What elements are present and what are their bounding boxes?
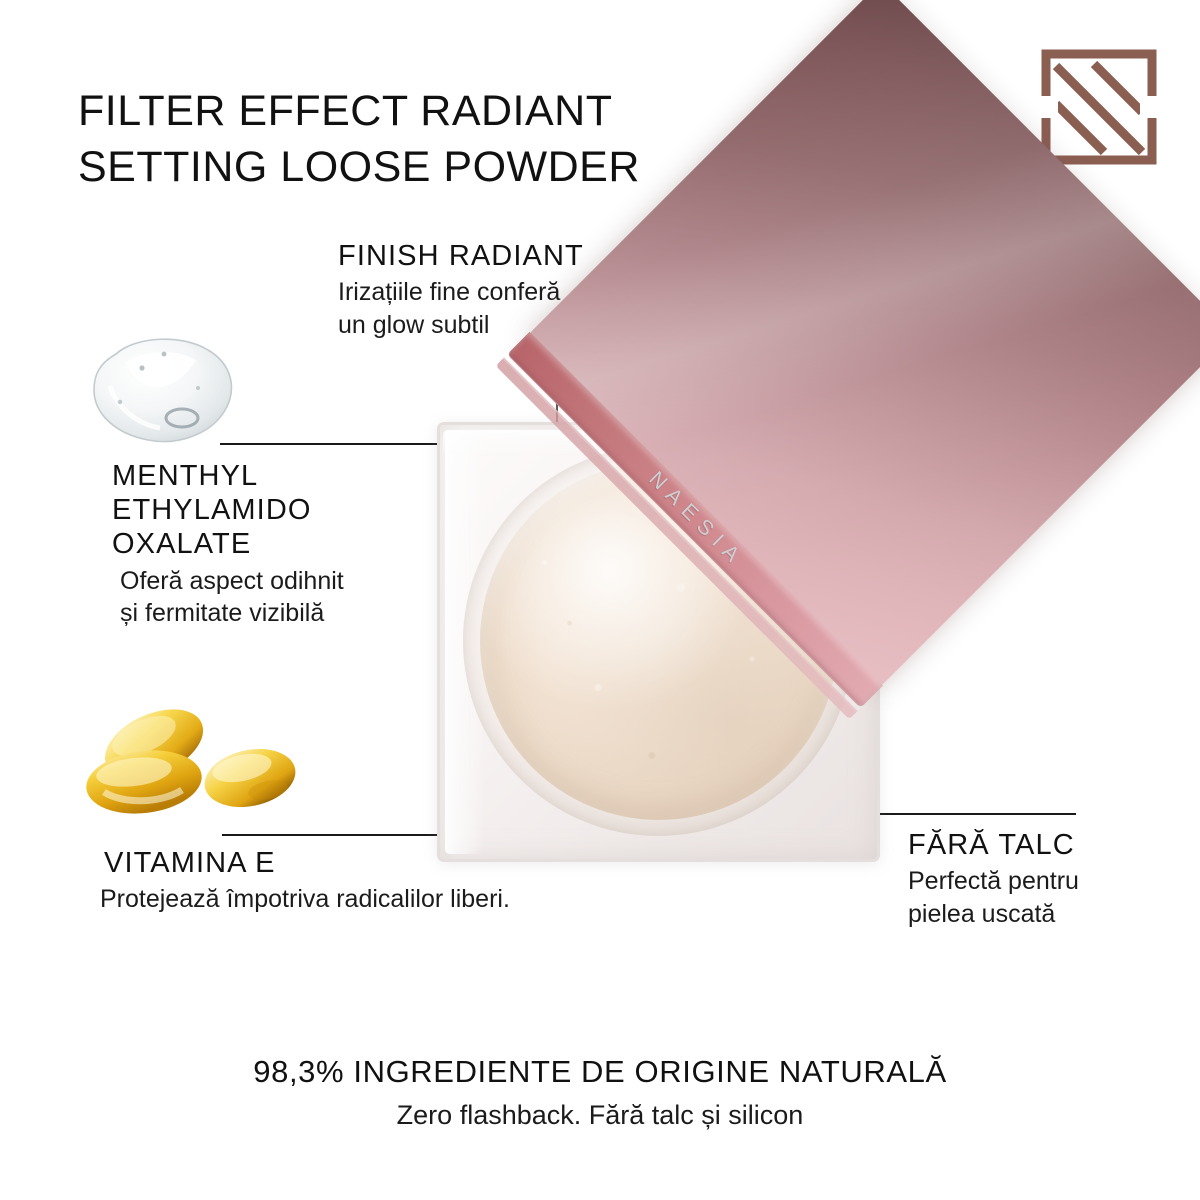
claim-main-text: 98,3% INGREDIENTE DE ORIGINE NATURALĂ [0, 1052, 1200, 1092]
callout-body: Perfectă pentru pielea uscată [908, 865, 1158, 930]
callout-fara-talc: FĂRĂ TALC Perfectă pentru pielea uscată [908, 828, 1158, 930]
infographic-canvas: FILTER EFFECT RADIANT SETTING LOOSE POWD… [0, 0, 1200, 1200]
callout-vitamina-e: VITAMINA E Protejează împotriva radicali… [104, 846, 664, 916]
callout-heading: FĂRĂ TALC [908, 828, 1158, 862]
connector-line-fara-talc [879, 813, 1076, 815]
softgel-capsules-icon [82, 700, 304, 832]
callout-body: Oferă aspect odihnit și fermitate vizibi… [120, 565, 442, 630]
footer-claim: 98,3% INGREDIENTE DE ORIGINE NATURALĂ Ze… [0, 1052, 1200, 1133]
connector-line-vitamina-e [222, 834, 439, 836]
naesia-n-monogram-icon [1040, 48, 1158, 166]
callout-body: Protejează împotriva radicalilor liberi. [100, 883, 664, 916]
claim-sub-text: Zero flashback. Fără talc și silicon [0, 1098, 1200, 1133]
callout-heading: FINISH RADIANT [338, 239, 668, 273]
callout-finish-radiant: FINISH RADIANT Irizațiile fine conferă u… [338, 239, 668, 341]
callout-body: Irizațiile fine conferă un glow subtil [338, 276, 668, 341]
gel-droplet-icon [86, 332, 244, 450]
connector-line-menthyl [220, 443, 438, 445]
callout-heading: VITAMINA E [104, 846, 664, 880]
callout-menthyl-ethylamido-oxalate: MENTHYL ETHYLAMIDO OXALATE Oferă aspect … [112, 459, 442, 630]
callout-heading: MENTHYL ETHYLAMIDO OXALATE [112, 459, 442, 562]
